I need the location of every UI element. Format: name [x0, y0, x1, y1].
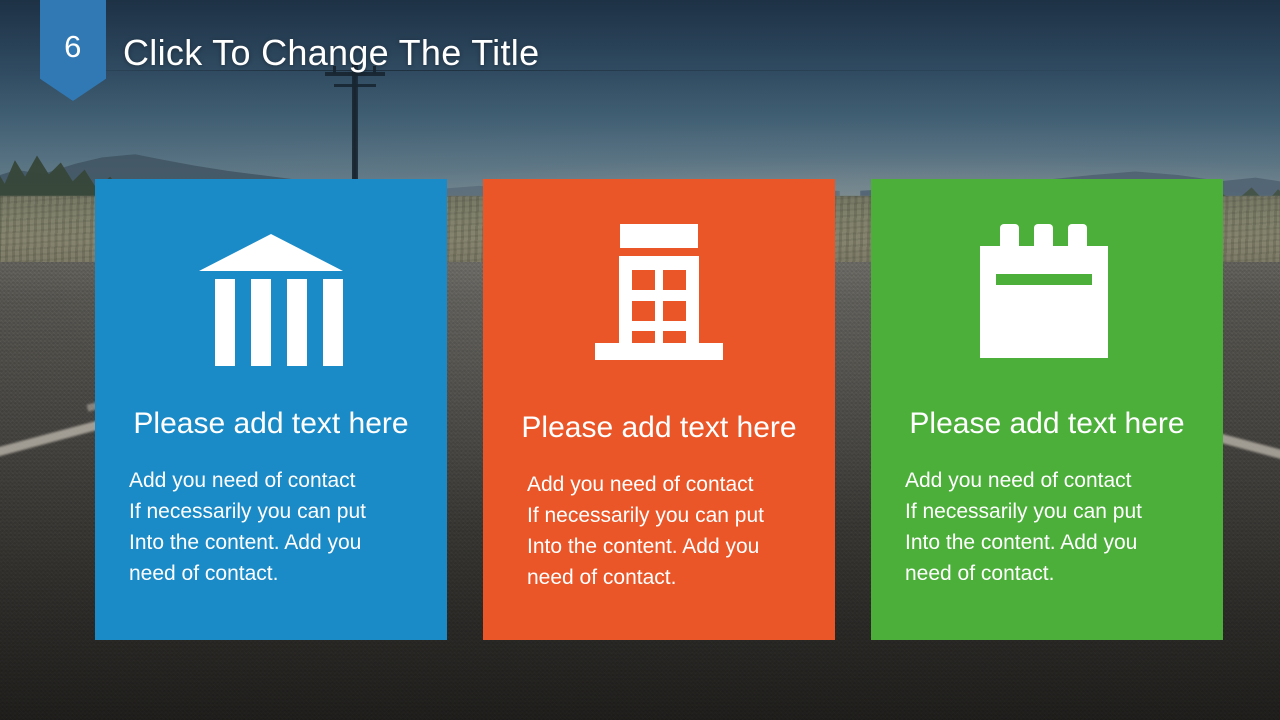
card-body-line: need of contact.: [527, 562, 807, 593]
card-body-text: Add you need of contact If necessarily y…: [95, 465, 447, 589]
card-body-line: If necessarily you can put: [527, 500, 807, 531]
bank-icon: [196, 216, 346, 366]
office-building-icon: [584, 216, 734, 366]
card-body-text: Add you need of contact If necessarily y…: [483, 469, 835, 593]
card-body-line: Into the content. Add you: [129, 527, 413, 558]
card-heading: Please add text here: [909, 409, 1184, 439]
content-card-calendar[interactable]: Please add text here Add you need of con…: [871, 179, 1223, 640]
card-body-line: Into the content. Add you: [527, 531, 807, 562]
content-card-office[interactable]: Please add text here Add you need of con…: [483, 179, 835, 640]
calendar-icon-container: [871, 179, 1223, 403]
card-body-line: Into the content. Add you: [905, 527, 1195, 558]
card-body-line: If necessarily you can put: [129, 496, 413, 527]
bank-icon-container: [95, 179, 447, 403]
card-heading: Please add text here: [521, 413, 796, 443]
office-building-icon-container: [483, 179, 835, 403]
card-body-line: Add you need of contact: [129, 465, 413, 496]
card-heading: Please add text here: [133, 409, 408, 439]
card-body-line: If necessarily you can put: [905, 496, 1195, 527]
card-row: Please add text here Add you need of con…: [0, 0, 1280, 720]
card-body-line: Add you need of contact: [905, 465, 1195, 496]
card-body-line: need of contact.: [129, 558, 413, 589]
card-body-text: Add you need of contact If necessarily y…: [871, 465, 1223, 589]
card-body-line: Add you need of contact: [527, 469, 807, 500]
card-body-line: need of contact.: [905, 558, 1195, 589]
calendar-icon: [972, 216, 1122, 366]
content-card-bank[interactable]: Please add text here Add you need of con…: [95, 179, 447, 640]
presentation-slide: 6 Click To Change The Title Please add t…: [0, 0, 1280, 720]
